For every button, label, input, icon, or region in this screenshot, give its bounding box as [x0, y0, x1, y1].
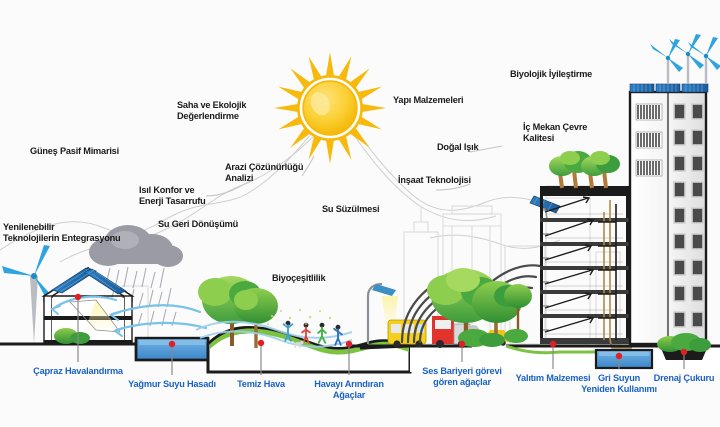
label-capraz-havalandirma: Çapraz Havalandırma: [33, 366, 123, 377]
label-gri-suyun: Gri Suyun Yeniden Kullanımı: [581, 373, 657, 395]
label-su-geri-donusumu: Su Geri Dönüşümü: [158, 219, 238, 230]
label-dogal-isik: Doğal Işık: [437, 142, 478, 153]
label-yenilenebilir-teknolojiler: Yenilenebilir Teknolojilerin Entegrasyon…: [3, 222, 120, 244]
label-saha-ve-ekolojik: Saha ve Ekolojik Değerlendirme: [177, 100, 246, 122]
solar-panel-icon: [630, 84, 708, 92]
label-arazi-cozunurlugu: Arazi Çözünürlüğü Analizi: [225, 162, 303, 184]
sun-icon: [274, 52, 386, 164]
greywater-tank: [596, 350, 652, 368]
label-isil-konfor: Isıl Konfor ve Enerji Tasarrufu: [139, 185, 206, 207]
infographic-canvas: Güneş Pasif Mimarisi Yenilenebilir Tekno…: [0, 0, 720, 427]
label-biyocesitlilik: Biyoçeşitlilik: [272, 273, 325, 284]
label-temiz-hava: Temiz Hava: [237, 379, 285, 390]
label-ic-mekan-cevre-kalitesi: İç Mekan Çevre Kalitesi: [523, 122, 587, 144]
label-insaat-teknolojisi: İnşaat Teknolojisi: [398, 175, 471, 186]
label-biyolojik-iyilestirme: Biyolojik İyileştirme: [510, 69, 592, 80]
label-ses-bariyeri: Ses Bariyeri görevi gören ağaçlar: [422, 366, 501, 388]
label-drenaj-cukuru: Drenaj Çukuru: [654, 373, 715, 384]
label-yagmur-suyu-hasadi: Yağmur Suyu Hasadı: [128, 379, 216, 390]
label-havayi-arindiran: Havayı Arındıran Ağaçlar: [314, 379, 383, 401]
label-gunes-pasif-mimarisi: Güneş Pasif Mimarisi: [30, 146, 119, 157]
label-yapi-malzemeleri: Yapı Malzemeleri: [393, 95, 463, 106]
label-yalitim-malzemesi: Yalıtım Malzemesi: [516, 373, 591, 384]
label-su-suzulmesi: Su Süzülmesi: [322, 204, 379, 215]
